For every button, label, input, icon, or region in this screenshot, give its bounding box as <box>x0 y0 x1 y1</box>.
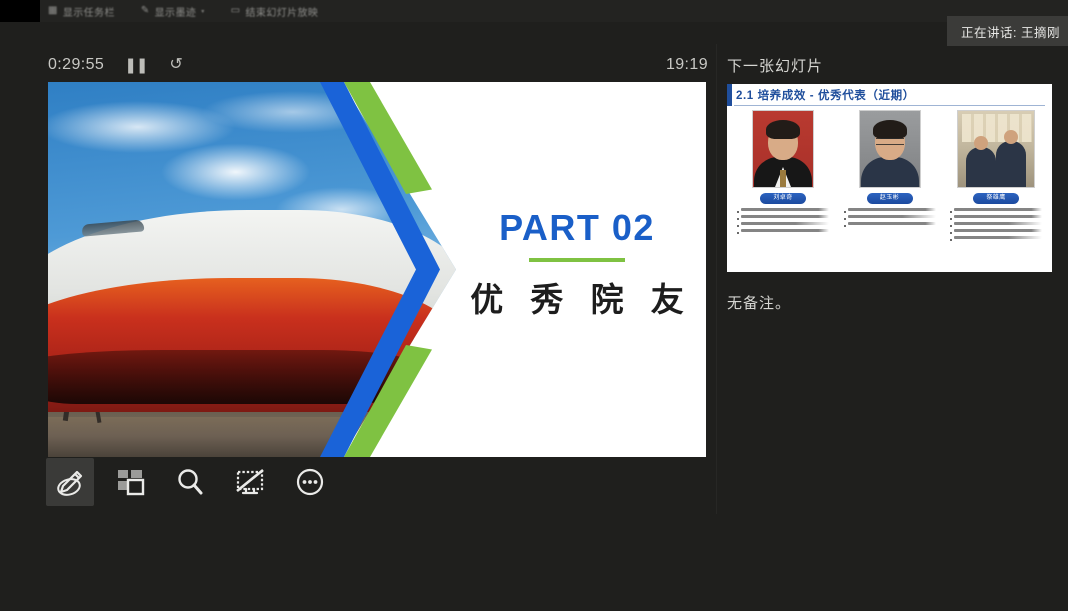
presenter-timer-row: 0:29:55 ❚❚ ↺ 19:19 <box>48 52 708 78</box>
more-options-icon <box>293 465 327 499</box>
speaker-notes-text: 无备注。 <box>727 292 791 313</box>
slide-part-label: PART 02 <box>499 210 655 246</box>
bullet-line <box>844 215 936 220</box>
toolbar-item-end-show-label: 结束幻灯片放映 <box>246 4 319 19</box>
pen-icon <box>53 465 87 499</box>
person-name-badge: 刘卓奇 <box>760 193 806 204</box>
wall-clock: 19:19 <box>666 56 708 74</box>
hair-shape <box>766 120 800 139</box>
portrait-grey-background <box>859 110 921 188</box>
bullet-line <box>737 229 829 234</box>
thumbnail-person: 祭雄鹰 <box>948 110 1044 243</box>
person-bullet-list <box>948 208 1044 241</box>
elapsed-timer: 0:29:55 <box>48 56 104 74</box>
next-slide-thumbnail[interactable]: 2.1 培养成效 - 优秀代表（近期） 刘卓奇 <box>727 84 1052 272</box>
restart-icon[interactable]: ↺ <box>169 57 182 73</box>
tie-shape <box>780 170 786 187</box>
bullet-line <box>737 215 829 220</box>
glasses-shape <box>876 138 904 145</box>
portrait-red-background <box>752 110 814 188</box>
black-screen-icon <box>233 465 267 499</box>
zoom-slide-button[interactable] <box>166 458 214 506</box>
toolbar-item-taskbar[interactable]: ▦ 显示任务栏 <box>48 4 115 19</box>
monitor-icon: ▭ <box>231 6 241 16</box>
bullet-line <box>950 215 1042 220</box>
current-slide-stage[interactable]: PART 02 优 秀 院 友 <box>48 82 706 457</box>
hair-shape <box>873 120 907 139</box>
bullet-line <box>950 208 1042 213</box>
thumbnail-title-accent <box>727 84 732 106</box>
pause-icon[interactable]: ❚❚ <box>124 58 147 73</box>
chevron-down-icon: ▾ <box>201 8 204 15</box>
person-figure-right <box>996 141 1026 187</box>
person-figure-left <box>966 147 996 187</box>
thumbnail-people-row: 刘卓奇 赵玉彬 <box>735 110 1044 243</box>
slide-title-underline <box>529 258 625 262</box>
all-slides-button[interactable] <box>106 458 154 506</box>
photo-two-people <box>957 110 1035 188</box>
panel-divider <box>716 44 717 514</box>
next-slide-label: 下一张幻灯片 <box>727 55 823 76</box>
bullet-line <box>844 208 936 213</box>
bullet-line <box>950 236 1042 241</box>
toolbar-left-void <box>0 0 40 22</box>
slide-grid-icon <box>113 465 147 499</box>
toolbar-item-taskbar-label: 显示任务栏 <box>63 4 115 19</box>
more-options-button[interactable] <box>286 458 334 506</box>
thumbnail-person: 刘卓奇 <box>735 110 831 243</box>
person-bullet-list <box>842 208 938 227</box>
pen-icon: ✎ <box>141 6 150 16</box>
bullet-line <box>844 222 936 227</box>
pavement <box>48 417 456 457</box>
person-name-badge: 赵玉彬 <box>867 193 913 204</box>
thumbnail-title-rule <box>734 105 1045 106</box>
active-speaker-badge: 正在讲话: 王摘刚 <box>947 16 1068 46</box>
magnifier-icon <box>173 465 207 499</box>
pen-tool-button[interactable] <box>46 458 94 506</box>
bullet-line <box>737 208 829 213</box>
grid-icon: ▦ <box>48 6 58 16</box>
person-name-badge: 祭雄鹰 <box>973 193 1019 204</box>
bullet-line <box>950 229 1042 234</box>
black-screen-button[interactable] <box>226 458 274 506</box>
presenter-view-window: ▦ 显示任务栏 ✎ 显示墨迹 ▾ ▭ 结束幻灯片放映 正在讲话: 王摘刚 0:2… <box>0 0 1068 611</box>
toolbar-item-ink[interactable]: ✎ 显示墨迹 ▾ <box>141 4 205 19</box>
thumbnail-title: 2.1 培养成效 - 优秀代表（近期） <box>736 87 915 103</box>
suit-shape <box>861 157 919 187</box>
wall-banner <box>962 114 1032 142</box>
toolbar-item-end-show[interactable]: ▭ 结束幻灯片放映 <box>231 4 319 19</box>
thumbnail-person: 赵玉彬 <box>842 110 938 243</box>
bullet-line <box>737 222 829 227</box>
app-toolbar-strip: ▦ 显示任务栏 ✎ 显示墨迹 ▾ ▭ 结束幻灯片放映 <box>0 0 1068 22</box>
person-bullet-list <box>735 208 831 234</box>
presenter-tools <box>46 458 334 506</box>
toolbar-item-ink-label: 显示墨迹 <box>155 4 197 19</box>
slide-text-block: PART 02 优 秀 院 友 <box>448 82 706 457</box>
bullet-line <box>950 222 1042 227</box>
slide-title: 优 秀 院 友 <box>461 280 693 320</box>
